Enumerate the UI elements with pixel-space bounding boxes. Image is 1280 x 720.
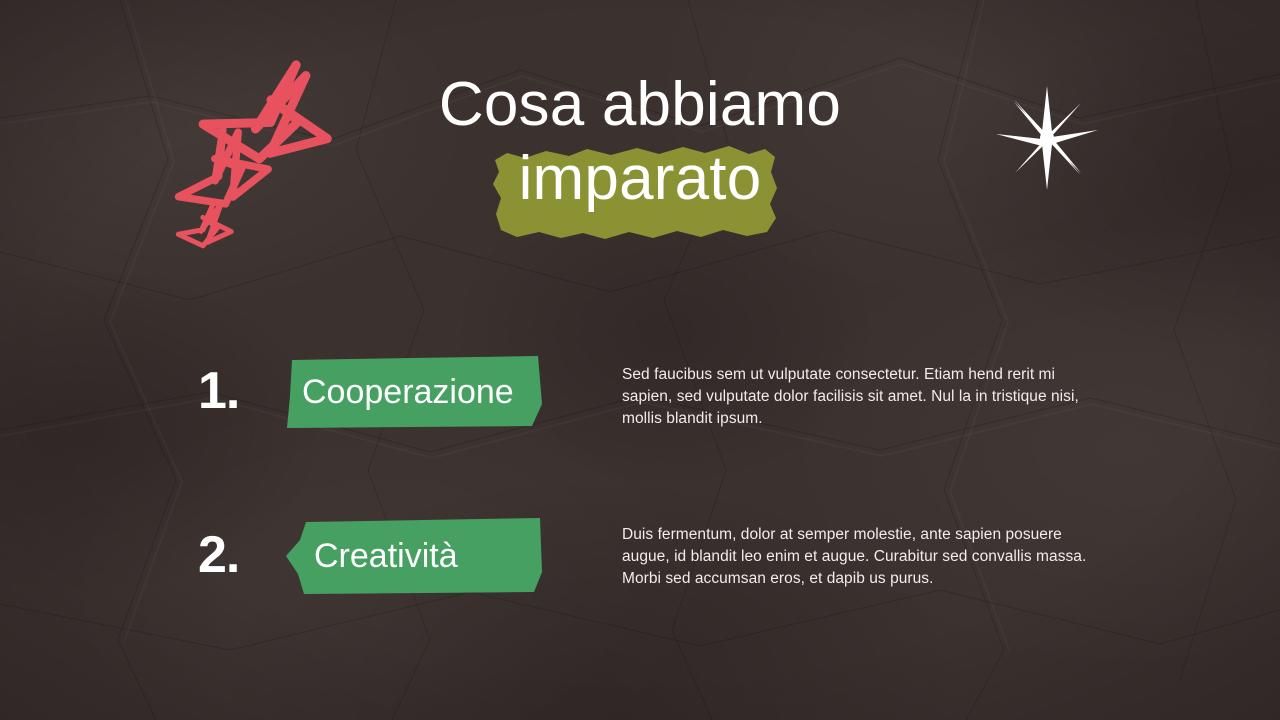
- list-item: 2. Creatività Duis fermentum, dolor at s…: [0, 516, 1280, 636]
- item-body-text: Duis fermentum, dolor at semper molestie…: [622, 524, 1092, 590]
- item-label-text: Cooperazione: [284, 352, 546, 432]
- title-line-1: Cosa abbiamo: [360, 68, 920, 142]
- sparkle-star-icon: [992, 82, 1102, 194]
- title-line-2-wrapper: imparato: [360, 142, 920, 216]
- title-line-2-text: imparato: [519, 144, 762, 213]
- item-label-text: Creatività: [284, 516, 546, 596]
- title-line-2-highlighted: imparato: [505, 142, 776, 216]
- slide-title: Cosa abbiamo imparato: [360, 68, 920, 216]
- red-stars-doodle-icon: [172, 52, 352, 257]
- item-body-text: Sed faucibus sem ut vulputate consectetu…: [622, 364, 1092, 430]
- slide-canvas: Cosa abbiamo imparato 1. Cooperazione Se…: [0, 0, 1280, 720]
- item-number: 1.: [198, 360, 276, 422]
- list-item: 1. Cooperazione Sed faucibus sem ut vulp…: [0, 352, 1280, 472]
- item-label-badge: Cooperazione: [284, 352, 546, 432]
- item-label-badge: Creatività: [284, 516, 546, 596]
- item-number: 2.: [198, 524, 276, 586]
